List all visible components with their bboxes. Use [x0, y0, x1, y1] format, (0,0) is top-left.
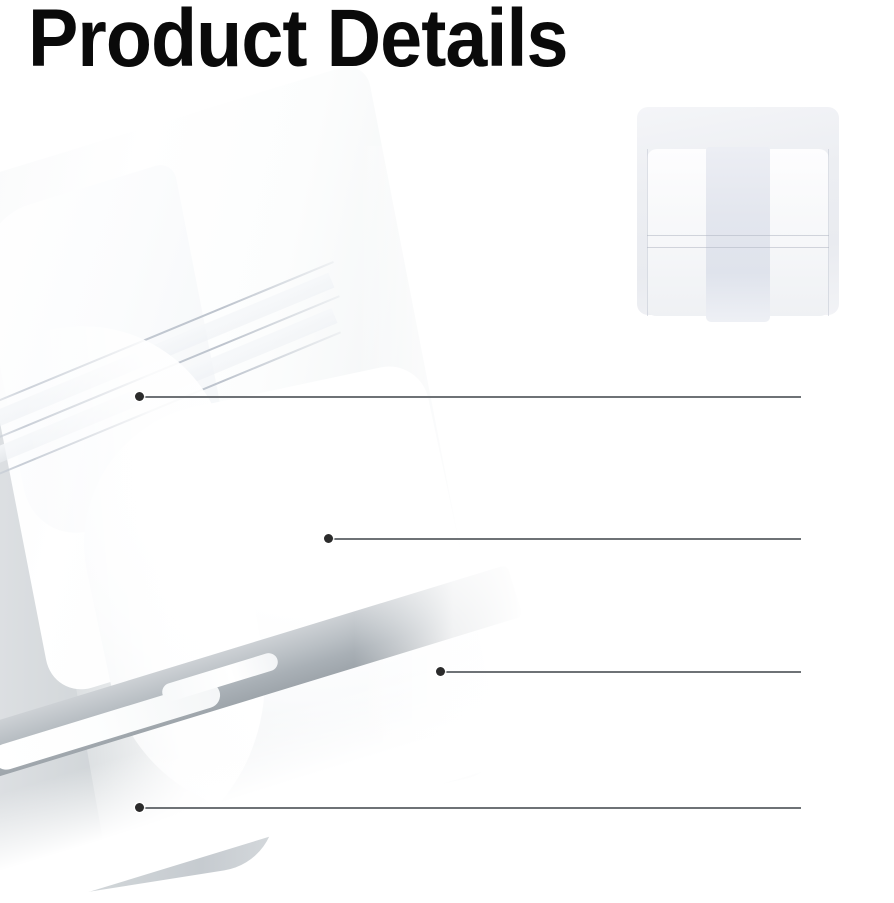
callout-leader-line	[332, 538, 801, 540]
callout-dot-icon	[135, 392, 144, 401]
product-angled-photo	[0, 186, 514, 903]
callout-dot-icon	[135, 803, 144, 812]
thumbnail-right-edge	[828, 149, 829, 316]
callout-dot-icon	[436, 667, 445, 676]
page-title: Product Details	[28, 0, 568, 82]
thumbnail-seam-upper	[647, 235, 829, 236]
thumbnail-seam-lower	[647, 247, 829, 248]
product-front-view-thumbnail	[637, 107, 839, 322]
callout-leader-line	[444, 671, 801, 673]
product-details-page: Product Details Exquisite cutting techno…	[0, 0, 894, 903]
callout-leader-line	[143, 396, 801, 398]
thumbnail-left-edge	[647, 149, 648, 316]
callout-leader-line	[143, 807, 801, 809]
product-right-fade	[354, 146, 574, 903]
callout-dot-icon	[324, 534, 333, 543]
